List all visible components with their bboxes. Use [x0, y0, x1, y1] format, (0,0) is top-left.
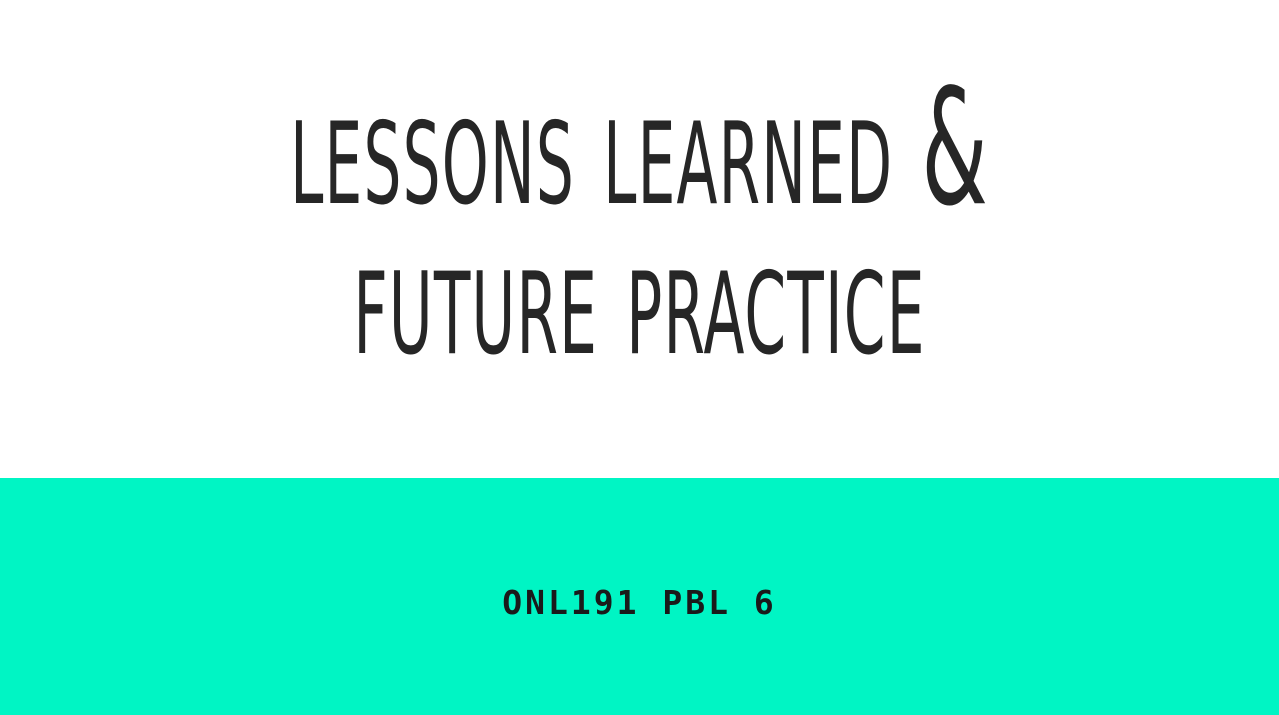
title-area: Lessons learned & future practice [0, 0, 1279, 478]
slide-subtitle: ONL191 PBL 6 [0, 586, 1279, 619]
title-slide: Lessons learned & future practice ONL191… [0, 0, 1279, 715]
accent-band: ONL191 PBL 6 [0, 478, 1279, 715]
slide-title: Lessons learned & future practice [205, 74, 1075, 372]
